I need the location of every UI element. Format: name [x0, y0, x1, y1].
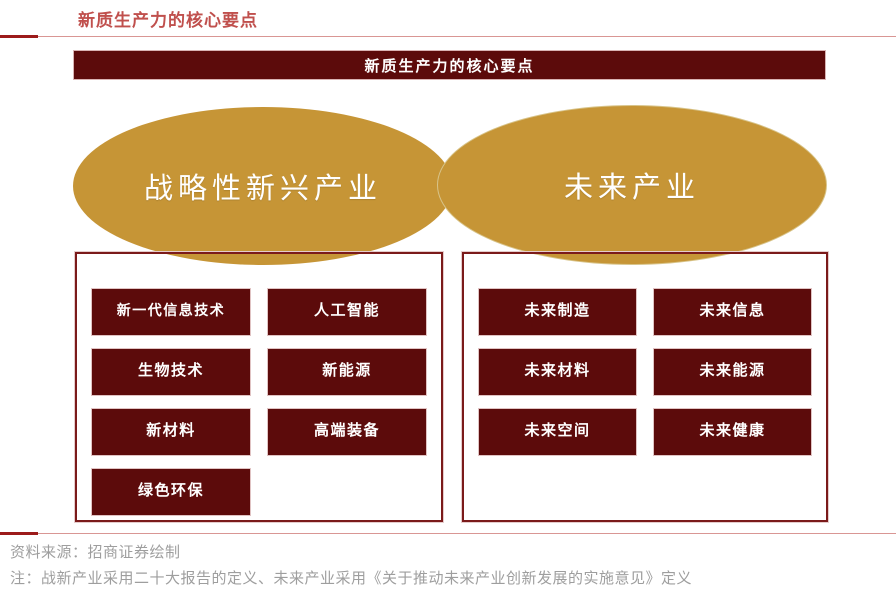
- chip-grid-right: 未来制造 未来信息 未来材料 未来能源 未来空间 未来健康: [478, 288, 812, 456]
- chip-future-energy: 未来能源: [653, 348, 812, 396]
- footer-divider-accent: [0, 532, 38, 535]
- ellipse-future-industries: 未来产业: [437, 105, 827, 265]
- chip-new-materials: 新材料: [91, 408, 251, 456]
- chip-placeholder-left: [267, 468, 427, 516]
- ellipse-label-right: 未来产业: [564, 164, 700, 206]
- page-title: 新质生产力的核心要点: [78, 6, 258, 31]
- chart-banner: 新质生产力的核心要点: [73, 50, 826, 80]
- chip-future-space: 未来空间: [478, 408, 637, 456]
- chip-future-materials: 未来材料: [478, 348, 637, 396]
- panel-future-industries: 未来制造 未来信息 未来材料 未来能源 未来空间 未来健康: [462, 252, 828, 522]
- chart-banner-label: 新质生产力的核心要点: [364, 55, 534, 76]
- chip-artificial-intelligence: 人工智能: [267, 288, 427, 336]
- header-divider: [0, 36, 896, 37]
- chip-grid-left: 新一代 信息技术 人工智能 生物技术 新能源 新材料 高端装备 绿色环保: [91, 288, 427, 516]
- chip-biotechnology: 生物技术: [91, 348, 251, 396]
- chip-line-2: 信息技术: [163, 303, 225, 320]
- footer-note: 注：战新产业采用二十大报告的定义、未来产业采用《关于推动未来产业创新发展的实施意…: [10, 567, 692, 588]
- chip-new-generation-it: 新一代 信息技术: [91, 288, 251, 336]
- chip-future-manufacturing: 未来制造: [478, 288, 637, 336]
- footer-source: 资料来源：招商证券绘制: [10, 541, 181, 562]
- chip-future-information: 未来信息: [653, 288, 812, 336]
- ellipse-label-left: 战略性新兴产业: [144, 165, 382, 207]
- panel-strategic-emerging-industries: 新一代 信息技术 人工智能 生物技术 新能源 新材料 高端装备 绿色环保: [75, 252, 443, 522]
- chip-green-environmental-protection: 绿色环保: [91, 468, 251, 516]
- chip-new-energy: 新能源: [267, 348, 427, 396]
- chip-high-end-equipment: 高端装备: [267, 408, 427, 456]
- footer-divider: [0, 533, 896, 534]
- chip-future-health: 未来健康: [653, 408, 812, 456]
- header-divider-accent: [0, 35, 38, 38]
- ellipse-strategic-emerging-industries: 战略性新兴产业: [73, 107, 453, 265]
- chip-line-1: 新一代: [117, 303, 164, 320]
